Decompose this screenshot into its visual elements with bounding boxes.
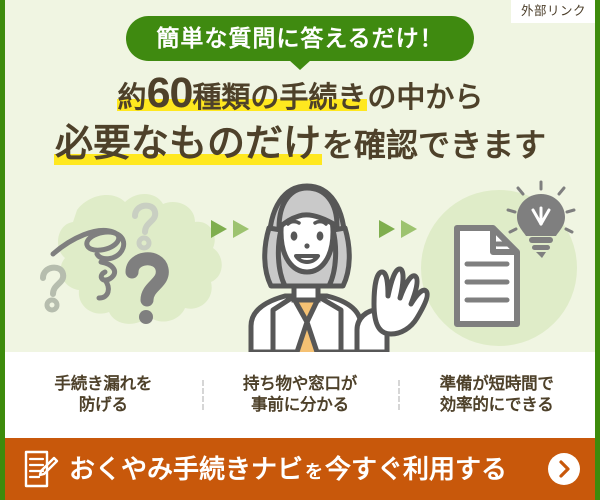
chevron-right-circle-icon[interactable] [547,452,581,486]
cta-action: 今すぐ利用する [325,454,507,484]
headline: 約60種類の手続きの中から 必要なものだけを確認できます [5,72,595,163]
headline-line2-suffix: を確認できます [322,127,546,163]
badge-container: 簡単な質問に答えるだけ！ [5,16,595,61]
feature-item-2: 持ち物や窓口が 事前に分かる [202,374,399,416]
headline-badge: 簡単な質問に答えるだけ！ [126,16,473,61]
external-link-badge: 外部リンク [511,0,595,23]
document-pencil-icon [23,449,59,489]
feature-item-3: 準備が短時間で 効率的にできる [398,374,595,416]
advertisement-banner[interactable]: 外部リンク 簡単な質問に答えるだけ！ 約60種類の手続きの中から 必要なものだけ… [0,0,600,500]
headline-line-1: 約60種類の手続きの中から [5,72,595,115]
feature-2-line-1: 持ち物や窓口が [206,374,395,395]
illustration-row [5,176,595,352]
feature-item-1: 手続き漏れを 防げる [5,374,202,416]
cta-particle: を [303,462,325,482]
headline-highlight: 必要なものだけ [54,123,322,165]
cta-service-name: おくやみ手続きナビ [69,454,303,484]
feature-list: 手続き漏れを 防げる 持ち物や窓口が 事前に分かる 準備が短時間で 効率的にでき… [5,352,595,438]
feature-1-line-2: 防げる [9,395,198,416]
headline-mid: 種類の手続き [192,82,366,114]
headline-line-2: 必要なものだけを確認できます [5,125,595,163]
smiling-woman-waving-icon [251,186,427,352]
document-lightbulb-icon [421,182,577,346]
cta-label: おくやみ手続きナビを今すぐ利用する [69,456,541,482]
hero-section: 外部リンク 簡単な質問に答えるだけ！ 約60種類の手続きの中から 必要なものだけ… [5,0,595,352]
feature-1-line-1: 手続き漏れを [9,374,198,395]
headline-prefix: 約 [118,82,147,114]
feature-3-line-1: 準備が短時間で [402,374,591,395]
feature-3-line-2: 効率的にできる [402,395,591,416]
feature-2-line-2: 事前に分かる [206,395,395,416]
cta-button[interactable]: おくやみ手続きナビを今すぐ利用する [5,438,595,500]
headline-suffix: の中から [367,82,483,114]
headline-number: 60 [147,69,193,117]
question-marks-scribble-icon [43,194,222,324]
